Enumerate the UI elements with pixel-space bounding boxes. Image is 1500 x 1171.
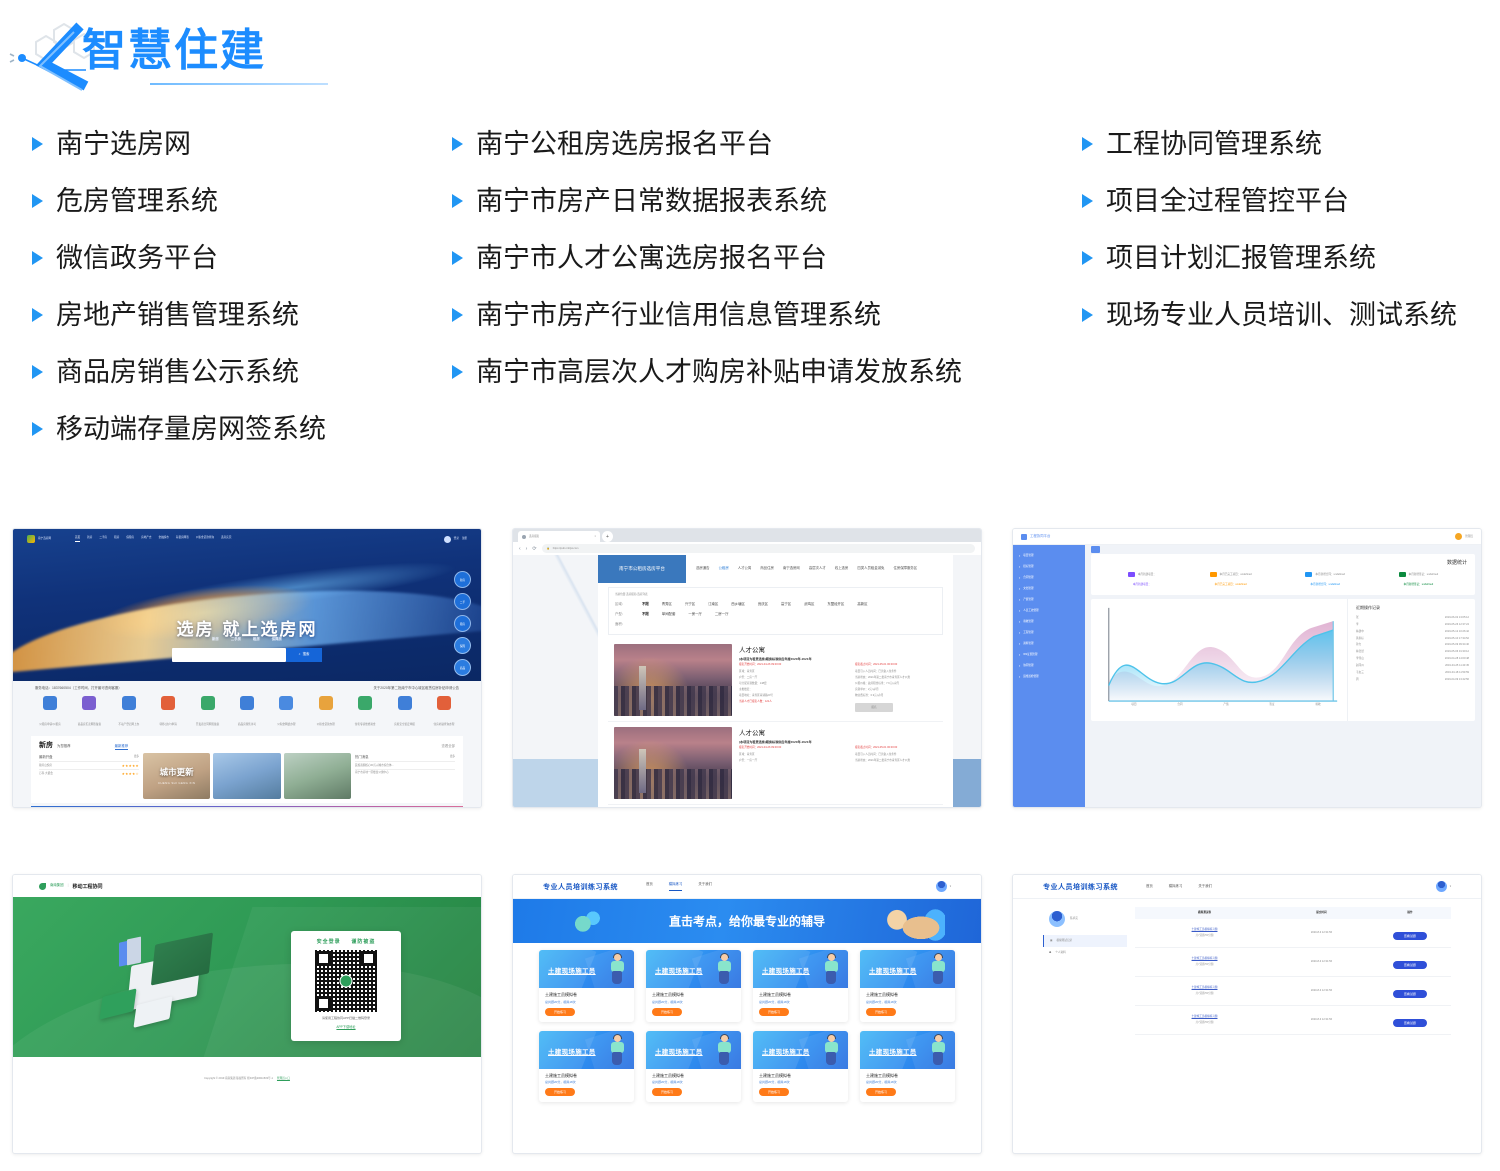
filter-option[interactable]: 青秀区 [662, 602, 672, 607]
quick-icon-item[interactable]: 开发商合同网签备案 [193, 696, 223, 730]
hot-news-row[interactable]: 民族商圈核心60万㎡城市综合体... [355, 761, 455, 769]
list-item-label: 商品房销售公示系统 [56, 356, 299, 390]
login-link[interactable]: 登录 [454, 537, 459, 541]
start-practice-button[interactable]: 开始练习 [545, 1088, 575, 1096]
favicon-icon [522, 535, 526, 539]
log-time: 2019-05-10 17:34:52 [1445, 637, 1469, 641]
filter-option[interactable]: 武鸣区 [804, 602, 814, 607]
submit-time: 2020-8-3 12:31:56 [1274, 931, 1369, 935]
start-practice-button[interactable]: 开始练习 [545, 1008, 575, 1016]
filter-option[interactable]: 不限 [642, 612, 649, 617]
list-item[interactable]: 商品房销售公示系统 [32, 356, 326, 390]
log-user: 李 [1356, 623, 1359, 627]
content-tabstrip[interactable] [1091, 545, 1475, 554]
start-practice-button[interactable]: 开始练习 [759, 1008, 789, 1016]
log-time: 2019-04-18 11:50:59 [1445, 671, 1469, 675]
color-strip [31, 806, 463, 808]
top-nav[interactable]: 首页 模拟练习 关于我们 [646, 882, 712, 890]
filter-option[interactable]: 单间配套 [662, 612, 676, 617]
nav-item[interactable]: 首页 [75, 536, 80, 542]
list-item[interactable]: 项目计划汇报管理系统 [1082, 242, 1457, 276]
tab-chip[interactable] [1091, 546, 1100, 553]
ranking-row[interactable]: 幕府山悦府 ★★★★★ [39, 761, 139, 769]
start-practice-button[interactable]: 开始练习 [652, 1008, 682, 1016]
listing-title: 人才公寓 [739, 644, 959, 654]
course-thumbnail: 土建现场施工员 [753, 950, 848, 988]
nav-item[interactable]: 存量房网签 [176, 536, 189, 542]
course-card[interactable]: 土建现场施工员 土建施工员模拟卷总共题20分，模拟18次开始练习 [646, 1031, 741, 1103]
nav-menu[interactable]: 首页 新房 二手房 租房 保障房 房地产志 金融超市 存量房网签 公积金贷款查询… [75, 536, 231, 542]
forward-icon[interactable]: › [526, 546, 528, 552]
course-thumb-title: 土建现场施工员 [869, 1046, 917, 1056]
field-value: 公租价格：政府租金标准：7.6元/㎡/月 [855, 682, 959, 686]
quick-icon-item[interactable]: 住宅专项维修资金 [350, 696, 380, 730]
log-user: 林浩然 [1356, 650, 1364, 654]
paper-name[interactable]: 土建施工员模拟练习题 [1135, 957, 1274, 961]
quick-icon-label: 商品房预售许可 [238, 723, 256, 726]
list-item-label: 南宁市人才公寓选房报名平台 [476, 242, 827, 276]
app-title: 专业人员培训练习系统 [543, 882, 618, 892]
user-name: 管理员 [1465, 535, 1473, 539]
list-item-label: 南宁市房产行业信用信息管理系统 [476, 299, 881, 333]
nav-item[interactable]: 金融超市 [158, 536, 168, 542]
system-list-area: 南宁选房网 危房管理系统 微信政务平台 房地产销售管理系统 商品房销售公示系统 … [0, 128, 1500, 508]
list-icon: ▣ [1050, 939, 1052, 943]
nav-item[interactable]: 人才公寓 [738, 566, 752, 571]
column-header-paper: 模拟测试卷 [1135, 911, 1274, 915]
paper-name[interactable]: 土建施工员模拟练习题 [1135, 986, 1274, 990]
banner-decor-right [865, 903, 945, 943]
sidebar-item[interactable]: ▪招标管理 [1013, 561, 1085, 572]
qr-code-icon[interactable] [315, 950, 377, 1012]
triangle-right-icon [1082, 137, 1093, 151]
account-menu[interactable]: ▾ [936, 881, 951, 892]
list-item[interactable]: 现场专业人员培训、测试系统 [1082, 299, 1457, 333]
rail-button[interactable]: 租房 [454, 615, 471, 632]
sidebar-item[interactable]: ▪W3证照管理 [1013, 649, 1085, 660]
rail-button[interactable]: 保障 [454, 637, 471, 654]
listing-item[interactable]: 人才公寓 (本项目为租赁选房)期房标准供应年度2020年-2021年 报名开始时… [608, 639, 943, 722]
nav-item-home[interactable]: 首页 [646, 882, 653, 890]
filter-panel[interactable]: 当前位置:选房报名/选房列表 区域： 不限 青秀区 兴宁区 江南区 西乡塘区 良… [608, 587, 943, 635]
log-user: 赵同州 [1356, 664, 1364, 668]
filter-option[interactable]: 一房一厅 [688, 612, 702, 617]
person-icon: ☗ [1049, 951, 1051, 955]
nav-item[interactable]: 选房实况 [221, 536, 231, 542]
list-item-label: 南宁选房网 [56, 128, 191, 162]
quick-icon-grid[interactable]: 公租房申请/公租房 商品房买卖网签备案 不动产登记网上办 转移(过户)申请 开发… [13, 694, 481, 734]
site-name: 南宁选房网 [38, 537, 51, 541]
browser-tab[interactable]: 选房报名 × [518, 531, 600, 542]
log-row: 孙力2019-05-09 09:34:40 [1356, 642, 1469, 649]
triangle-right-icon [32, 251, 43, 265]
profile-name: 陈承英 [1070, 917, 1078, 921]
view-paper-button[interactable]: 查看试题 [1393, 961, 1427, 969]
nav-item[interactable]: 住房保障服务区 [893, 566, 917, 571]
start-practice-button[interactable]: 开始练习 [866, 1088, 896, 1096]
person-illustration-icon [602, 1035, 626, 1065]
chart-log-panel: 项目 合同 产值 签证 验收 近期操作记录 张2019-06-02 13:05:… [1091, 599, 1475, 721]
section-tab[interactable]: 最新推荐 [115, 744, 129, 750]
nav-item-practice[interactable]: 模拟练习 [1169, 884, 1183, 889]
stats-panel: 数据统计 本月新建项目： 本月已完工项目：undefined 本月新增合同：un… [1091, 554, 1475, 595]
course-card-grid[interactable]: 土建现场施工员 土建施工员模拟卷总共题20分，模拟18次开始练习 土建现场施工员… [513, 943, 981, 1109]
table-row[interactable]: 土建施工员模拟练习题共7道题/50分题 2020-8-3 12:31:56 查看… [1135, 919, 1451, 948]
site-nav[interactable]: 选房通告 公租房 人才公寓 商品住房 南宁选房网 高层次人才 线上选房 四类人员… [686, 566, 917, 571]
course-body: 土建施工员模拟卷总共题20分，模拟18次开始练习 [646, 1069, 741, 1103]
ranking-row[interactable]: 万科·大都会 ★★★★☆ [39, 769, 139, 777]
listing-item[interactable]: 人才公寓 (本项目为租赁选房)期房标准供应年度2020年-2021年 报名开始时… [608, 722, 943, 805]
filter-option[interactable]: 江南区 [708, 602, 718, 607]
filter-option[interactable]: 二房一厅 [715, 612, 729, 617]
course-card[interactable]: 土建现场施工员 土建施工员模拟卷总共题20分，模拟18次开始练习 [539, 950, 634, 1022]
course-title: 土建施工员模拟卷 [866, 992, 949, 998]
nav-item[interactable]: 高层次人才 [809, 566, 826, 571]
screenshot-training-test-records[interactable]: 专业人员培训练习系统 首页 模拟练习 关于我们 ▾ 陈承英 ▣模拟测试记录 ☗个… [1012, 874, 1482, 1154]
account-menu[interactable]: ▾ [1436, 881, 1451, 892]
screenshot-public-rental-platform[interactable]: 选房报名 × + ‹ › ⟳ 🔒 https://pub.nnfcjw.com [512, 528, 982, 808]
list-item[interactable]: 移动端存量房网签系统 [32, 413, 326, 447]
screenshot-nanning-housing-portal[interactable]: 南宁选房网 首页 新房 二手房 租房 保障房 房地产志 金融超市 存量房网签 公… [12, 528, 482, 808]
listing-photo [614, 644, 732, 716]
legend-label: 本月新增合同：undefined [1315, 573, 1345, 577]
hero-tab[interactable]: 租房 [253, 637, 260, 642]
course-body: 土建施工员模拟卷总共题20分，模拟18次开始练习 [753, 988, 848, 1022]
list-item[interactable]: 项目全过程管控平台 [1082, 185, 1457, 219]
list-item[interactable]: 房地产销售管理系统 [32, 299, 326, 333]
qr-title-secondary: 谨防被盗 [351, 939, 375, 945]
sidebar-item-profile[interactable]: ☗个人资料 [1043, 947, 1127, 959]
filter-option[interactable]: 邕宁区 [781, 602, 791, 607]
course-thumb-title: 土建现场施工员 [548, 965, 596, 975]
records-sidebar[interactable]: 陈承英 ▣模拟测试记录 ☗个人资料 [1043, 907, 1127, 1035]
log-user: 周 [1356, 678, 1359, 682]
paper-name[interactable]: 土建施工员模拟练习题 [1135, 1015, 1274, 1019]
table-header: 模拟测试卷 提交时间 操作 [1135, 907, 1451, 919]
sidebar-item-label: 产值管理 [1023, 598, 1033, 602]
section-subtitle: 为您推荐 [57, 744, 71, 749]
nav-item-home[interactable]: 首页 [1146, 884, 1153, 889]
title-underline [150, 83, 328, 85]
log-user: 林建中 [1356, 630, 1364, 634]
hero-tabs[interactable]: 新房 二手房 租房 保障房 [13, 637, 481, 642]
promo-banner: 直击考点，给你最专业的辅导 [513, 899, 981, 943]
nav-item[interactable]: 商品住房 [760, 566, 774, 571]
person-illustration-icon [923, 954, 947, 984]
list-item[interactable]: 南宁市房产行业信用信息管理系统 [452, 299, 962, 333]
nav-item-about[interactable]: 关于我们 [698, 882, 712, 890]
hot-news-list: 热门消息 更多 民族商圈核心60万㎡城市综合体... 南宁市房地一区楼盘公寓中心 [355, 753, 455, 799]
new-tab-button[interactable]: + [602, 531, 613, 542]
nav-item[interactable]: 保障房 [126, 536, 134, 542]
list-item-label: 工程协同管理系统 [1106, 128, 1322, 162]
quick-icon-label: 公积金贷款办理 [317, 723, 335, 726]
quick-icon-item[interactable]: 转移(过户)申请 [153, 696, 183, 730]
nav-item[interactable]: 四类人员租金减免 [857, 566, 884, 571]
login-topbar: 南南集团 | 移动工程协同 [13, 875, 481, 897]
url-field[interactable]: 🔒 https://pub.nnfcjw.com [542, 544, 975, 553]
sidebar-item-test-records[interactable]: ▣模拟测试记录 [1043, 935, 1127, 947]
back-icon[interactable]: ‹ [519, 546, 521, 552]
sidebar-item[interactable]: ▪文档管理 [1013, 583, 1085, 594]
section-more-link[interactable]: 查看全部 [441, 744, 455, 749]
admin-entry-link[interactable]: 管理员入口 [277, 1077, 290, 1081]
list-item[interactable]: 南宁市房产日常数据报表系统 [452, 185, 962, 219]
nav-item[interactable]: 公积金贷款查询 [196, 536, 214, 542]
sidebar-item[interactable]: ▪协同管理 [1013, 660, 1085, 671]
hot-news-header: 热门消息 更多 [355, 753, 455, 761]
log-row: 林建中2019-05-12 10:26:42 [1356, 628, 1469, 635]
submit-time: 2020-8-3 12:31:56 [1274, 1018, 1369, 1022]
register-link[interactable]: 注册 [462, 537, 467, 541]
ranking-more[interactable]: 更多 [134, 755, 139, 759]
course-title: 土建施工员模拟卷 [652, 992, 735, 998]
profile-block: 陈承英 [1043, 907, 1127, 935]
nav-item[interactable]: 二手房 [99, 536, 107, 542]
quick-icon-item[interactable]: 住房补贴查询办理 [429, 696, 459, 730]
browser-address-bar[interactable]: ‹ › ⟳ 🔒 https://pub.nnfcjw.com [513, 542, 981, 555]
hero-search[interactable]: ⌕ 搜索 [172, 648, 322, 662]
hero-tab[interactable]: 二手房 [231, 637, 241, 642]
listing-info: 人才公寓 (本项目为租赁选房)期房标准供应年度2020年-2021年 报名开始时… [739, 644, 959, 716]
list-item[interactable]: 微信政务平台 [32, 242, 326, 276]
list-item[interactable]: 危房管理系统 [32, 185, 326, 219]
course-title: 土建施工员模拟卷 [759, 992, 842, 998]
page-viewport: 南宁市公租房选房平台 选房通告 公租房 人才公寓 商品住房 南宁选房网 高层次人… [513, 555, 981, 807]
icon-glyph [43, 696, 57, 710]
list-item[interactable]: 南宁公租房选房报名平台 [452, 128, 962, 162]
course-card[interactable]: 土建现场施工员 土建施工员模拟卷总共题20分，模拟18次开始练习 [753, 1031, 848, 1103]
start-practice-button[interactable]: 开始练习 [866, 1008, 896, 1016]
course-title: 土建施工员模拟卷 [545, 1073, 628, 1079]
field-value: 当前状态：2021年第二批南宁市青秀区人才公寓 [855, 676, 959, 680]
menu-icon: ▪ [1019, 642, 1020, 646]
course-card[interactable]: 土建现场施工员 土建施工员模拟卷总共题20分，模拟18次开始练习 [860, 1031, 955, 1103]
hero-tab[interactable]: 保障房 [272, 637, 282, 642]
rating-stars-icon: ★★★★★ [122, 764, 139, 768]
filter-label: 户型： [615, 612, 629, 617]
list-item[interactable]: 南宁选房网 [32, 128, 326, 162]
site-header: 南宁市公租房选房平台 选房通告 公租房 人才公寓 商品住房 南宁选房网 高层次人… [598, 555, 953, 583]
apply-button[interactable]: 报名 [855, 703, 893, 712]
lock-icon: 🔒 [547, 547, 550, 551]
quick-icon-label: 公积金网络办理 [277, 723, 295, 726]
list-item[interactable]: 南宁市高层次人才购房补贴申请发放系统 [452, 356, 962, 390]
legend-entry: 本月已完工项目：undefined [1210, 572, 1252, 577]
filter-row-region[interactable]: 区域： 不限 青秀区 兴宁区 江南区 西乡塘区 良庆区 邕宁区 武鸣区 东盟经开… [615, 600, 936, 610]
start-practice-button[interactable]: 开始练习 [759, 1088, 789, 1096]
nav-item[interactable]: 租房 [114, 536, 119, 542]
course-card[interactable]: 土建现场施工员 土建施工员模拟卷总共题20分，模拟18次开始练习 [860, 950, 955, 1022]
nav-item[interactable]: 房地产志 [141, 536, 151, 542]
log-time: 2019-05-12 10:26:42 [1445, 630, 1469, 634]
quick-icon-item[interactable]: 公积金网络办理 [271, 696, 301, 730]
view-paper-button[interactable]: 查看试题 [1393, 990, 1427, 998]
user-actions[interactable]: 登录 注册 [444, 536, 467, 543]
view-paper-button[interactable]: 查看试题 [1393, 932, 1427, 940]
listing-subtitle: (本项目为租赁选房)期房标准供应年度2020年-2021年 [739, 739, 959, 744]
quick-icon-item[interactable]: 不动产登记网上办 [114, 696, 144, 730]
section-header: 新房 为您推荐 最新推荐 查看全部 [39, 740, 455, 750]
quick-icon-item[interactable]: 公租房申请/公租房 [35, 696, 65, 730]
screenshot-training-practice-home[interactable]: 专业人员培训练习系统 首页 模拟练习 关于我们 ▾ 直击考点，给你最专业的辅导 … [512, 874, 982, 1154]
submit-time: 2020-8-3 12:31:56 [1274, 989, 1369, 993]
filter-label: 面积： [615, 622, 629, 627]
field-value: 项目地址：青秀区青湖路20号 [739, 694, 843, 698]
sidebar-item[interactable]: ▪工程管理 [1013, 627, 1085, 638]
sidebar-item-label: 文档管理 [1023, 587, 1033, 591]
sidebar-item[interactable]: ▪人员工效管理 [1013, 605, 1085, 616]
nav-item[interactable]: 线上选房 [835, 566, 849, 571]
listing-list: 人才公寓 (本项目为租赁选房)期房标准供应年度2020年-2021年 报名开始时… [608, 639, 943, 805]
qr-finder-top-left [316, 951, 331, 966]
paper-name[interactable]: 土建施工员模拟练习题 [1135, 928, 1274, 932]
search-button-label: 搜索 [303, 652, 310, 657]
tower-shape [639, 749, 646, 793]
menu-icon: ▪ [1019, 631, 1020, 635]
rail-button[interactable]: 商品 [454, 659, 471, 676]
hot-news-more[interactable]: 更多 [450, 755, 455, 759]
rail-button[interactable]: 二手 [454, 593, 471, 610]
course-card[interactable]: 土建现场施工员 土建施工员模拟卷总共题20分，模拟18次开始练习 [646, 950, 741, 1022]
course-meta: 总共题20分，模拟18次 [759, 1080, 842, 1084]
section-title: 新房 [39, 740, 53, 750]
avatar [936, 881, 947, 892]
view-paper-button[interactable]: 查看试题 [1393, 1019, 1427, 1027]
field-value: 可分配房源数量：148套 [739, 682, 843, 686]
quick-icon-item[interactable]: 公积金贷款办理 [311, 696, 341, 730]
search-button[interactable]: ⌕ 搜索 [286, 648, 322, 662]
divider: | [68, 883, 69, 888]
quick-icon-item[interactable]: 商品房买卖网签备案 [74, 696, 104, 730]
x-tick-label: 签证 [1269, 703, 1274, 707]
icon-glyph [358, 696, 372, 710]
app-name: 工程协同平台 [1030, 534, 1050, 539]
qr-card-heading: 安全登录 谨防被盗 [291, 938, 401, 945]
top-nav[interactable]: 首页 模拟练习 关于我们 [1146, 884, 1212, 889]
list-item-label: 微信政务平台 [56, 242, 218, 276]
nav-item-practice[interactable]: 模拟练习 [669, 882, 683, 890]
announcement-text[interactable]: 关于2020年第二批南宁市中心城区租赁住房补贴申请公告 [373, 686, 459, 691]
banner-title: 直击考点，给你最专业的辅导 [669, 913, 825, 930]
course-meta: 总共题20分，模拟18次 [866, 1000, 949, 1004]
field-value: 报名开始时间：2021-04-26 09:00:00 [739, 746, 843, 750]
ranking-title: 最新开盘 [39, 755, 53, 760]
reload-icon[interactable]: ⟳ [532, 546, 536, 552]
log-row: 林浩然2019-05-06 01:30:12 [1356, 649, 1469, 656]
quick-icon-item[interactable]: 房屋安全鉴定申报 [390, 696, 420, 730]
quick-icon-item[interactable]: 商品房预售许可 [232, 696, 262, 730]
qr-login-card[interactable]: 安全登录 谨防被盗 请使用工程协同APP扫描二维码登录 APP下载地址 [291, 931, 401, 1041]
list-item[interactable]: 南宁市人才公寓选房报名平台 [452, 242, 962, 276]
search-input[interactable] [172, 648, 286, 662]
table-row[interactable]: 土建施工员模拟练习题共7道题/50分题 2020-8-3 12:31:56 查看… [1135, 977, 1451, 1006]
sidebar-item[interactable]: ▪资料管理 [1013, 638, 1085, 649]
filter-option[interactable]: 高新区 [857, 602, 867, 607]
nav-item[interactable]: 选房通告 [696, 566, 710, 571]
course-thumbnail: 土建现场施工员 [539, 1031, 634, 1069]
course-meta: 总共题20分，模拟18次 [652, 1000, 735, 1004]
system-column-3: 工程协同管理系统 项目全过程管控平台 项目计划汇报管理系统 现场专业人员培训、测… [1082, 128, 1457, 356]
user-menu[interactable]: 管理员 [1455, 533, 1473, 540]
chevron-down-icon[interactable]: ▾ [950, 885, 951, 889]
page-body: 服务电话：1837660504（工作时间，打开最可咨询客服） 关于2020年第二… [13, 681, 481, 807]
chevron-down-icon[interactable]: ▾ [1450, 885, 1451, 889]
sidebar-item[interactable]: ▪产值管理 [1013, 594, 1085, 605]
filter-option[interactable]: 兴宁区 [685, 602, 695, 607]
nav-item-about[interactable]: 关于我们 [1198, 884, 1212, 889]
photo-gallery[interactable]: 城市更新 CHENG SHI GENG XIN [143, 753, 351, 799]
triangle-right-icon [32, 308, 43, 322]
sidebar-item[interactable]: ▪运维巡检管理 [1013, 671, 1085, 682]
table-row[interactable]: 土建施工员模拟练习题共7道题/50分题 2020-8-3 12:31:56 查看… [1135, 1006, 1451, 1035]
sidebar-item[interactable]: ▪验收管理 [1013, 616, 1085, 627]
filter-option[interactable]: 不限 [642, 602, 649, 607]
close-icon[interactable]: × [594, 535, 596, 539]
course-meta: 总共题20分，模拟18次 [759, 1000, 842, 1004]
course-thumbnail: 土建现场施工员 [539, 950, 634, 988]
filter-label: 区域： [615, 602, 629, 607]
course-body: 土建施工员模拟卷总共题20分，模拟18次开始练习 [860, 988, 955, 1022]
nav-item[interactable]: 公租房 [719, 566, 729, 571]
sidebar-item-label: W3证照管理 [1023, 653, 1037, 657]
screenshot-mobile-collab-login[interactable]: 南南集团 | 移动工程协同 安全登录 谨防被盗 [12, 874, 482, 1154]
stats-values: 本月新建项目： 本月已完工项目：undefined 本月新增合同：undefin… [1091, 579, 1475, 595]
field-value: 户型：二房一厅 [739, 676, 843, 680]
filter-option[interactable]: 西乡塘区 [731, 602, 745, 607]
log-user: 李伟山 [1356, 657, 1364, 661]
menu-icon: ▪ [1019, 653, 1020, 657]
book-shape-2 [127, 937, 141, 966]
magnifier-icon: ⌕ [299, 652, 301, 657]
rail-button[interactable]: 新房 [454, 571, 471, 588]
trend-chart: 项目 合同 产值 签证 验收 [1091, 599, 1347, 721]
avatar [1436, 881, 1447, 892]
nav-item[interactable]: 新房 [87, 536, 92, 542]
triangle-right-icon [452, 308, 463, 322]
hot-news-row[interactable]: 南宁市房地一区楼盘公寓中心 [355, 769, 455, 777]
browser-tabbar[interactable]: 选房报名 × + [513, 529, 981, 542]
list-item-label: 项目计划汇报管理系统 [1106, 242, 1376, 276]
chart-xaxis: 项目 合同 产值 签证 验收 [1111, 703, 1341, 707]
list-item[interactable]: 工程协同管理系统 [1082, 128, 1457, 162]
listing-subtitle: (本项目为租赁选房)期房标准供应年度2020年-2021年 [739, 656, 959, 661]
sidebar-item[interactable]: ▪项目管理 [1013, 550, 1085, 561]
photo-card[interactable] [284, 753, 351, 799]
log-time: 2019-05-09 09:34:40 [1445, 643, 1469, 647]
table-row[interactable]: 土建施工员模拟练习题共7道题/50分题 2020-8-3 12:31:56 查看… [1135, 948, 1451, 977]
course-card[interactable]: 土建现场施工员 土建施工员模拟卷总共题20分，模拟18次开始练习 [753, 950, 848, 1022]
log-row: 李2019-05-26 12:37:24 [1356, 621, 1469, 628]
filter-option[interactable]: 东盟经开区 [827, 602, 844, 607]
course-card[interactable]: 土建现场施工员 土建施工员模拟卷总共题20分，模拟18次开始练习 [539, 1031, 634, 1103]
photo-card[interactable] [213, 753, 280, 799]
photo-card[interactable]: 城市更新 CHENG SHI GENG XIN [143, 753, 210, 799]
filter-row-layout[interactable]: 户型： 不限 单间配套 一房一厅 二房一厅 [615, 610, 936, 620]
listing-field-row: 报名开始时间：2021-04-26 09:00:00报名截止时间：2021-05… [739, 663, 959, 667]
screenshot-engineering-dashboard[interactable]: 工程协同平台 管理员 ▪项目管理 ▪招标管理 ▪合同管理 ▪文档管理 ▪产值管理… [1012, 528, 1482, 808]
nav-item[interactable]: 南宁选房网 [783, 566, 800, 571]
hero-tab[interactable]: 新房 [212, 637, 219, 642]
filter-row-area[interactable]: 面积： [615, 620, 936, 630]
sidebar-item[interactable]: ▪合同管理 [1013, 572, 1085, 583]
app-download-link[interactable]: APP下载地址 [291, 1024, 401, 1029]
sidebar-item-label: 项目管理 [1023, 554, 1033, 558]
field-value: 报名截止时间：2021-05-01 00:00:00 [855, 663, 959, 667]
filter-option[interactable]: 良庆区 [758, 602, 768, 607]
start-practice-button[interactable]: 开始练习 [652, 1088, 682, 1096]
dashboard-sidebar[interactable]: ▪项目管理 ▪招标管理 ▪合同管理 ▪文档管理 ▪产值管理 ▪人员工效管理 ▪验… [1013, 545, 1085, 807]
